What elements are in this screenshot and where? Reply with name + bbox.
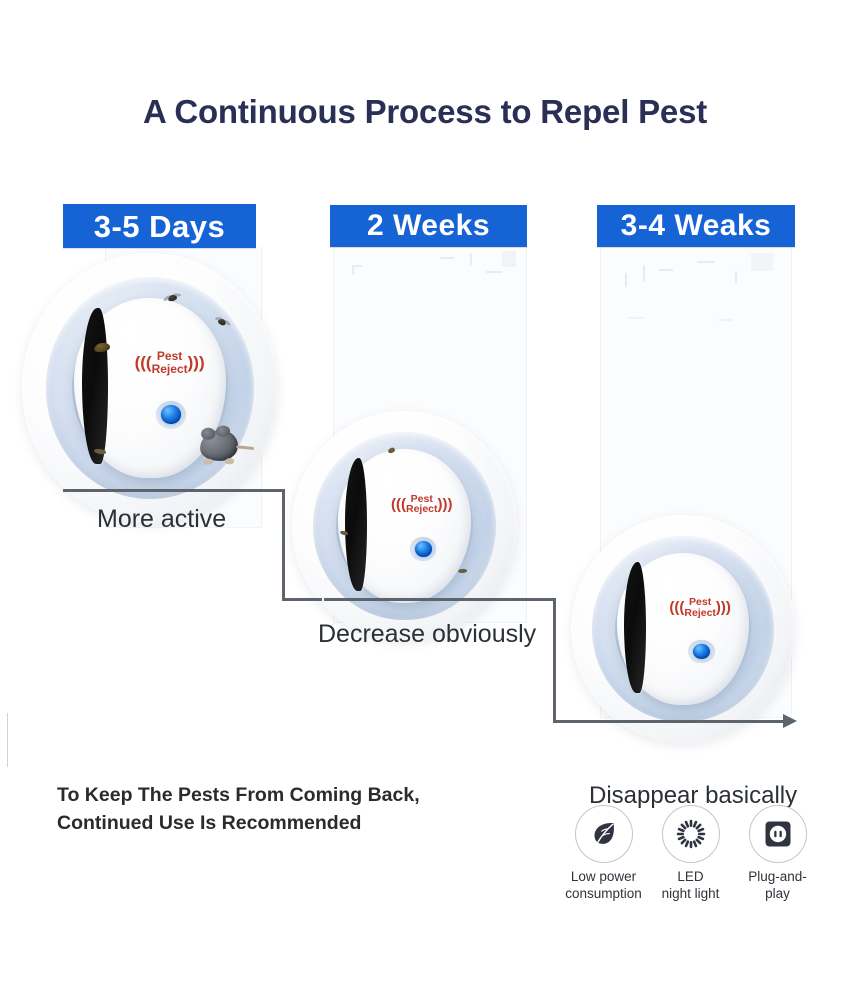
stage-badge-1: 3-5 Days bbox=[63, 204, 256, 248]
logo-line-2: Reject bbox=[684, 608, 716, 619]
soundwave-right-icon: ))) bbox=[188, 354, 205, 371]
connector-2-segment-drop bbox=[553, 598, 556, 723]
feature-low-power: Low power consumption bbox=[566, 805, 641, 903]
connector-1-segment-drop bbox=[282, 489, 285, 601]
soundwave-left-icon: ((( bbox=[669, 600, 684, 615]
page-title: A Continuous Process to Repel Pest bbox=[0, 93, 850, 131]
stage-badge-2: 2 Weeks bbox=[330, 205, 527, 247]
device-led-bezel bbox=[410, 537, 437, 561]
power-outlet-icon bbox=[763, 819, 793, 849]
feature-label: Low power consumption bbox=[565, 869, 642, 903]
footer-note-line-1: To Keep The Pests From Coming Back, bbox=[57, 782, 487, 810]
feature-icon-circle bbox=[749, 805, 807, 863]
logo-line-2: Reject bbox=[152, 363, 188, 375]
connector-1-segment-top bbox=[63, 489, 285, 492]
device-led-bezel bbox=[688, 640, 714, 664]
infographic-canvas: A Continuous Process to Repel Pest 3-5 D… bbox=[0, 0, 850, 995]
connector-2-segment-top bbox=[324, 598, 556, 601]
footer-note: To Keep The Pests From Coming Back, Cont… bbox=[57, 782, 487, 837]
leaf-icon bbox=[589, 819, 619, 849]
device-led-light bbox=[161, 405, 180, 424]
device-body: ((( Pest Reject ))) bbox=[338, 449, 471, 603]
pest-reject-logo: ((( Pest Reject ))) bbox=[123, 343, 217, 383]
caption-stage-1: More active bbox=[97, 505, 226, 534]
feature-icon-circle bbox=[575, 805, 633, 863]
led-burst-icon bbox=[676, 819, 706, 849]
logo-line-2: Reject bbox=[406, 504, 438, 515]
pest-reject-logo: ((( Pest Reject ))) bbox=[381, 487, 463, 521]
device-speaker-slot bbox=[82, 308, 108, 464]
caption-stage-2: Decrease obviously bbox=[318, 620, 536, 649]
connector-2-segment-bottom bbox=[553, 720, 785, 723]
device-body: ((( Pest Reject ))) bbox=[617, 553, 749, 706]
left-edge-rule bbox=[7, 713, 8, 767]
stage-badge-3: 3-4 Weaks bbox=[597, 205, 795, 247]
feature-label: Plug-and-play bbox=[740, 869, 815, 903]
connector-arrowhead-icon bbox=[783, 714, 797, 728]
soundwave-right-icon: ))) bbox=[438, 497, 453, 512]
pest-reject-logo: ((( Pest Reject ))) bbox=[659, 591, 741, 625]
feature-icon-circle bbox=[662, 805, 720, 863]
device-speaker-slot bbox=[624, 562, 646, 693]
footer-note-line-2: Continued Use Is Recommended bbox=[57, 810, 487, 838]
repeller-device-stage-1: ((( Pest Reject ))) bbox=[22, 253, 278, 523]
device-led-light bbox=[693, 644, 710, 660]
feature-led-night-light: LED night light bbox=[653, 805, 728, 903]
logo-line-1: Pest bbox=[152, 350, 188, 362]
soundwave-right-icon: ))) bbox=[716, 600, 731, 615]
repeller-device-stage-2: ((( Pest Reject ))) bbox=[292, 411, 517, 641]
device-led-bezel bbox=[156, 401, 186, 429]
feature-label: LED night light bbox=[662, 869, 720, 903]
device-body: ((( Pest Reject ))) bbox=[74, 298, 225, 479]
logo-line-1: Pest bbox=[684, 597, 716, 608]
device-led-light bbox=[415, 541, 432, 557]
soundwave-left-icon: ((( bbox=[135, 354, 152, 371]
feature-plug-and-play: Plug-and-play bbox=[740, 805, 815, 903]
device-speaker-slot bbox=[345, 458, 368, 591]
connector-1-segment-bottom bbox=[282, 598, 322, 601]
feature-list: Low power consumption bbox=[566, 805, 816, 903]
soundwave-left-icon: ((( bbox=[391, 497, 406, 512]
repeller-device-stage-3: ((( Pest Reject ))) bbox=[571, 515, 795, 743]
